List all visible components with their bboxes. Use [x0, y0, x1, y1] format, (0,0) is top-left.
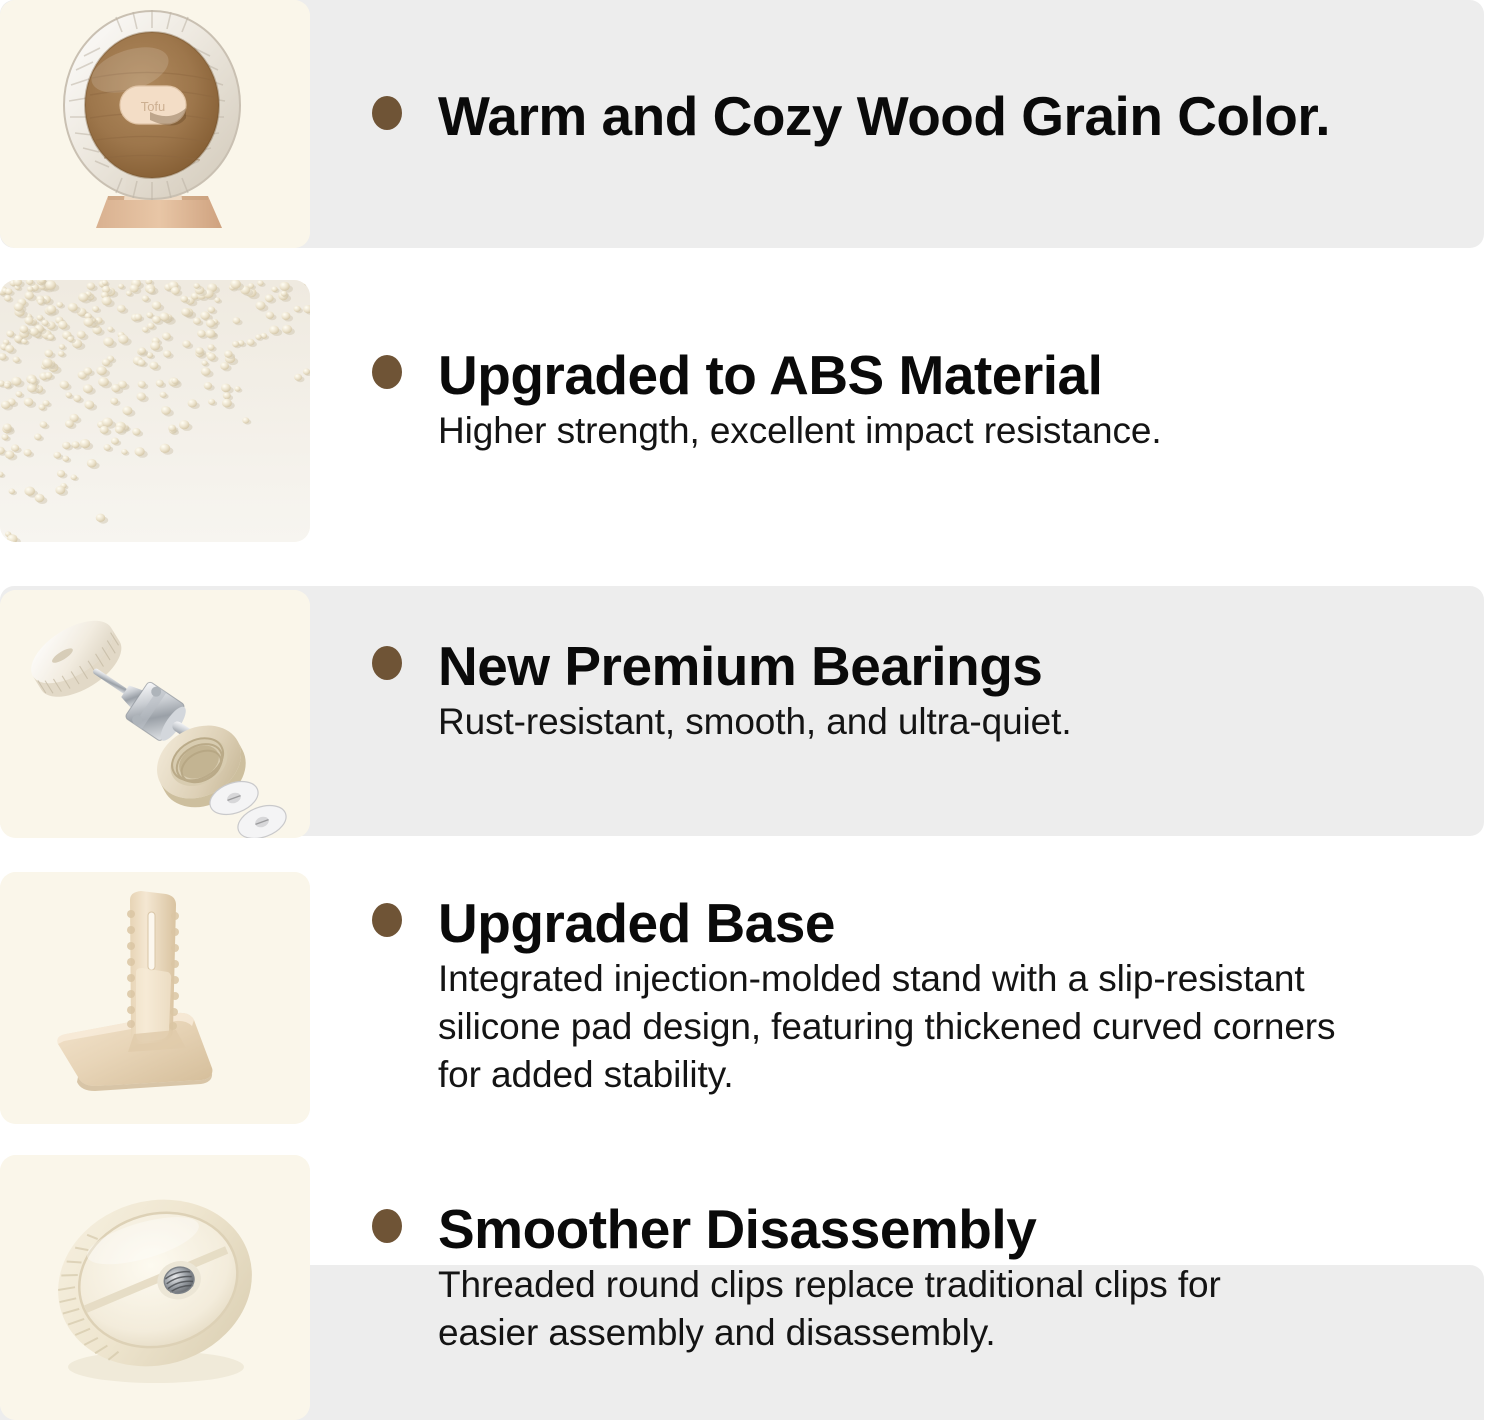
feature-headline-5: Smoother Disassembly	[372, 1199, 1472, 1261]
feature-headline-3: New Premium Bearings	[372, 636, 1472, 698]
bullet-dot-icon	[372, 96, 402, 130]
injection-molded-stand-photo	[0, 872, 310, 1124]
feature-title-2: Upgraded to ABS Material	[438, 345, 1102, 407]
feature-headline-1: Warm and Cozy Wood Grain Color.	[372, 86, 1472, 148]
description-line: Threaded round clips replace traditional…	[438, 1261, 1472, 1309]
feature-headline-2: Upgraded to ABS Material	[372, 345, 1472, 407]
bearing-exploded-view-photo	[0, 590, 310, 838]
svg-text:Tofu: Tofu	[141, 99, 166, 114]
feature-title-5: Smoother Disassembly	[438, 1199, 1036, 1261]
feature-text-4: Upgraded Base Integrated injection-molde…	[372, 893, 1472, 1099]
description-line: Rust-resistant, smooth, and ultra-quiet.	[438, 698, 1472, 746]
feature-description-3: Rust-resistant, smooth, and ultra-quiet.	[438, 698, 1472, 746]
feature-title-3: New Premium Bearings	[438, 636, 1042, 698]
feature-description-2: Higher strength, excellent impact resist…	[438, 407, 1472, 455]
bullet-dot-icon	[372, 355, 402, 389]
wheel-threaded-hub-photo	[0, 1155, 310, 1420]
feature-title-1: Warm and Cozy Wood Grain Color.	[438, 86, 1330, 148]
feature-description-4: Integrated injection-molded stand with a…	[438, 955, 1472, 1099]
bullet-dot-icon	[372, 646, 402, 680]
description-line: silicone pad design, featuring thickened…	[438, 1003, 1472, 1051]
feature-headline-4: Upgraded Base	[372, 893, 1472, 955]
feature-text-5: Smoother Disassembly Threaded round clip…	[372, 1199, 1472, 1357]
feature-text-1: Warm and Cozy Wood Grain Color.	[372, 86, 1472, 148]
feature-text-2: Upgraded to ABS Material Higher strength…	[372, 345, 1472, 455]
description-line: Higher strength, excellent impact resist…	[438, 407, 1472, 455]
description-line: easier assembly and disassembly.	[438, 1309, 1472, 1357]
feature-text-3: New Premium Bearings Rust-resistant, smo…	[372, 636, 1472, 746]
description-line: Integrated injection-molded stand with a…	[438, 955, 1472, 1003]
description-line: for added stability.	[438, 1051, 1472, 1099]
abs-plastic-pellets-photo	[0, 280, 310, 542]
hamster-wheel-wood-grain-photo: Tofu	[0, 0, 310, 248]
feature-title-4: Upgraded Base	[438, 893, 835, 955]
feature-description-5: Threaded round clips replace traditional…	[438, 1261, 1472, 1357]
bullet-dot-icon	[372, 1209, 402, 1243]
product-feature-list: Tofu	[0, 0, 1500, 1420]
bullet-dot-icon	[372, 903, 402, 937]
